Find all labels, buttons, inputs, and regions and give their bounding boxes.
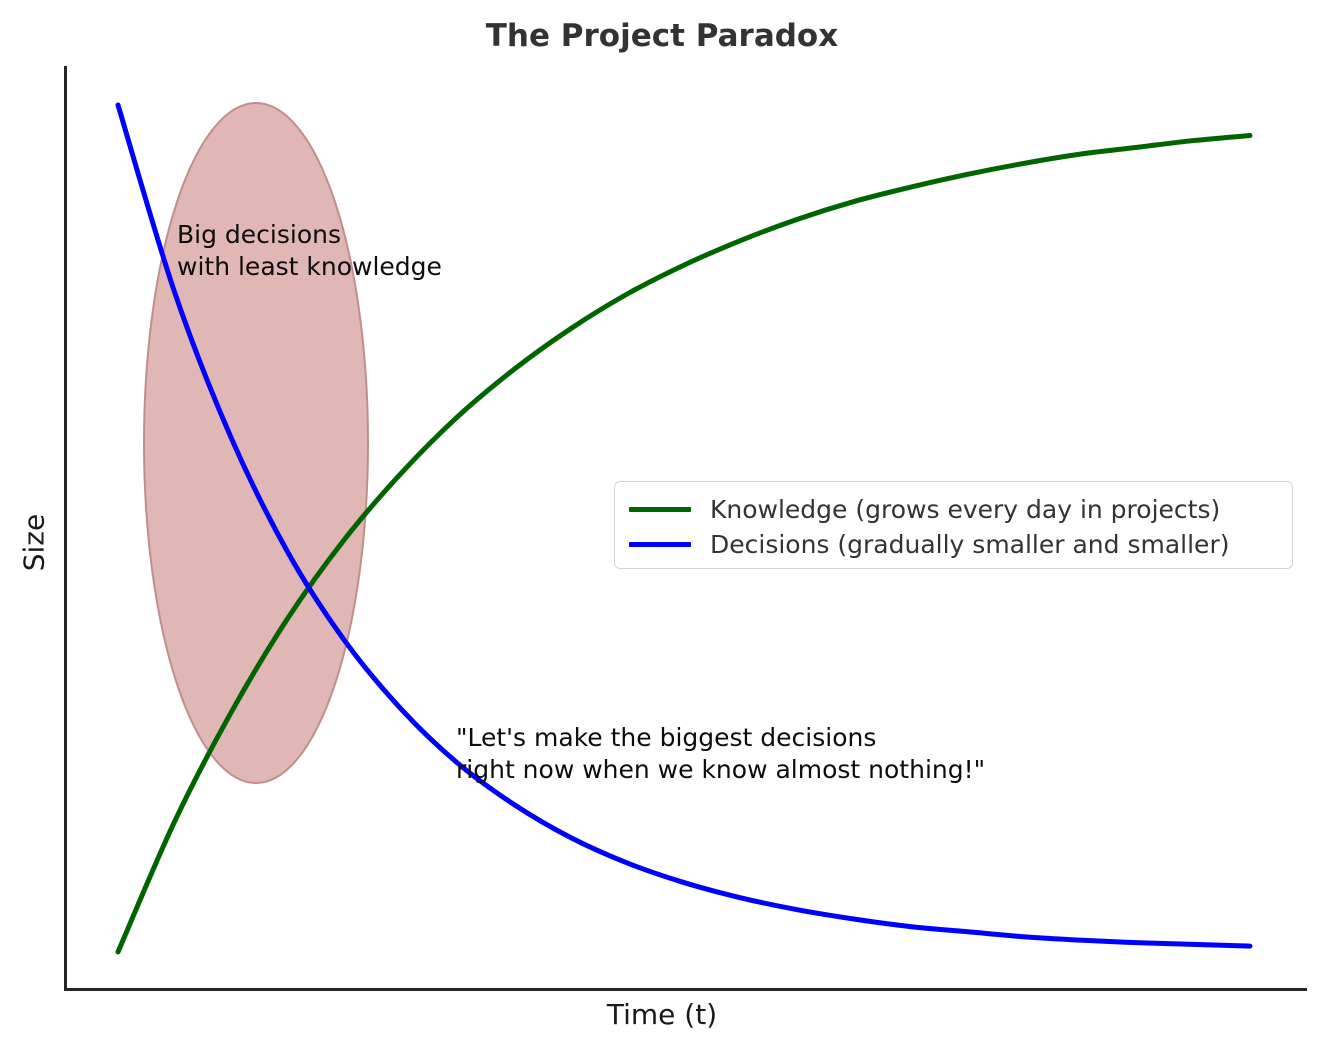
legend-item-knowledge[interactable]: Knowledge (grows every day in projects) — [629, 493, 1278, 526]
chart-figure: The Project Paradox Size Time (t) Big de… — [0, 0, 1324, 1054]
chart-legend: Knowledge (grows every day in projects) … — [614, 481, 1293, 569]
legend-label-knowledge: Knowledge (grows every day in projects) — [710, 495, 1220, 524]
quote-annotation-line2: right now when we know almost nothing!" — [456, 755, 985, 784]
highlight-annotation-line2: with least knowledge — [177, 252, 442, 281]
x-axis-label: Time (t) — [0, 998, 1324, 1031]
legend-item-decisions[interactable]: Decisions (gradually smaller and smaller… — [629, 528, 1278, 561]
highlight-annotation-line1: Big decisions — [177, 220, 341, 249]
quote-annotation-line1: "Let's make the biggest decisions — [456, 723, 876, 752]
y-axis-label: Size — [18, 503, 51, 583]
highlight-annotation: Big decisions with least knowledge — [177, 219, 442, 283]
legend-color-swatch-knowledge — [629, 507, 691, 512]
legend-color-swatch-decisions — [629, 542, 691, 547]
legend-label-decisions: Decisions (gradually smaller and smaller… — [710, 530, 1229, 559]
highlight-ellipse — [144, 103, 368, 783]
quote-annotation: "Let's make the biggest decisions right … — [456, 722, 985, 786]
